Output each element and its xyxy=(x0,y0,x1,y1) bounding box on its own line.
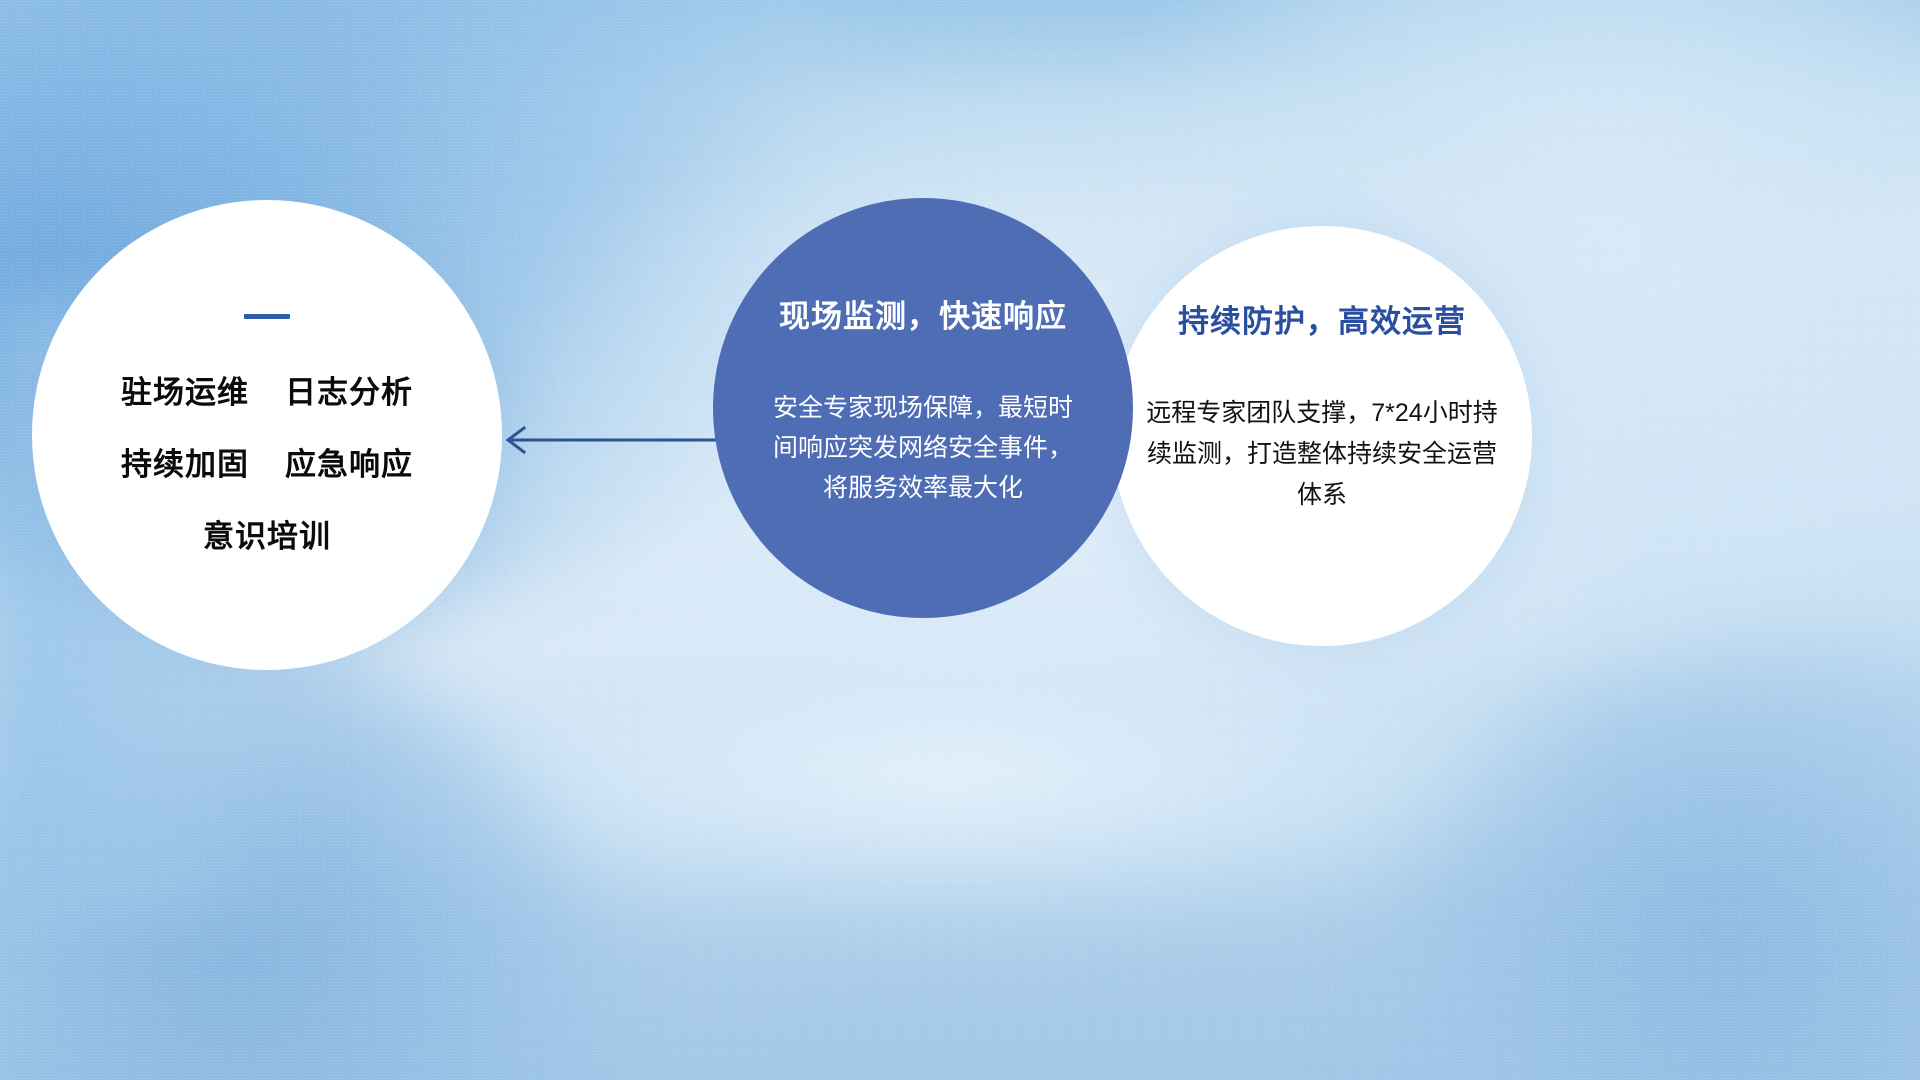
capability-tag: 应急响应 xyxy=(285,439,413,484)
right-circle-body: 远程专家团队支撑，7*24小时持续监测，打造整体持续安全运营体系 xyxy=(1136,393,1508,516)
left-pointing-arrow xyxy=(490,420,720,460)
capability-tag-row: 驻场运维 日志分析 xyxy=(121,367,413,412)
capability-tag-list: 驻场运维 日志分析 持续加固 应急响应 意识培训 xyxy=(121,367,413,556)
middle-circle-body: 安全专家现场保障，最短时间响应突发网络安全事件，将服务效率最大化 xyxy=(773,388,1073,508)
capability-tag: 日志分析 xyxy=(285,367,413,412)
capability-tag-row: 意识培训 xyxy=(203,511,331,556)
capability-tag-row: 持续加固 应急响应 xyxy=(121,439,413,484)
divider-line xyxy=(244,314,290,319)
left-capability-circle: 驻场运维 日志分析 持续加固 应急响应 意识培训 xyxy=(32,200,502,670)
capability-tag: 意识培训 xyxy=(203,511,331,556)
right-service-circle: 持续防护，高效运营 远程专家团队支撑，7*24小时持续监测，打造整体持续安全运营… xyxy=(1112,226,1532,646)
middle-service-circle: 现场监测，快速响应 安全专家现场保障，最短时间响应突发网络安全事件，将服务效率最… xyxy=(713,198,1133,618)
capability-tag: 持续加固 xyxy=(121,439,249,484)
capability-tag: 驻场运维 xyxy=(121,367,249,412)
right-circle-heading: 持续防护，高效运营 xyxy=(1178,296,1466,341)
middle-circle-heading: 现场监测，快速响应 xyxy=(779,291,1067,336)
